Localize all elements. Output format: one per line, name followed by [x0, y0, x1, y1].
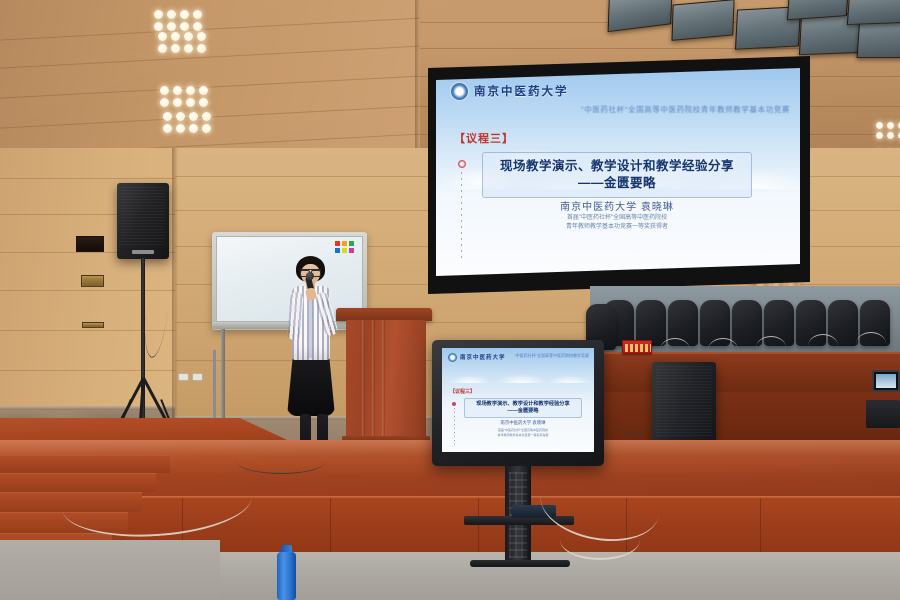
slide-subtitle: 首届"中医药社杯"全国高等中医药院校 青年教师教学基本功竞赛一等奖获得者: [482, 214, 752, 233]
mini-bullet-icon: [452, 402, 456, 406]
wall-plaque: [82, 322, 104, 328]
pa-speaker-grill: [121, 187, 165, 247]
panel-chair[interactable]: [732, 300, 762, 346]
mini-university-seal-icon: [448, 353, 457, 362]
wall-socket[interactable]: [178, 373, 189, 381]
slide-presenter-line: 南京中医药大学 袁晓琳: [482, 198, 752, 213]
mini-title-line-1: 现场教学演示、教学设计和教学经验分享: [468, 401, 578, 408]
pa-speaker-badge: [132, 250, 154, 254]
whiteboard-magnets[interactable]: [335, 241, 354, 253]
slide-bullet-icon: [458, 160, 466, 168]
wall-display-panel: [76, 236, 104, 252]
projection-screen[interactable]: 南京中医药大学 "中医药社杯"全国高等中医药院校青年教师教学基本功竞赛 【议程三…: [436, 68, 800, 276]
mini-presenter-line: 南京中医药大学 袁晓琳: [464, 420, 582, 426]
mini-subtitle-line-2: 青年教师教学基本功竞赛一等奖获得者: [464, 433, 582, 438]
ceiling-corner-shadow: [415, 0, 420, 150]
podium: [346, 320, 426, 440]
wall-plaque: [81, 275, 104, 287]
acoustic-panel: [847, 0, 900, 25]
slide-dotted-guide: [461, 172, 462, 260]
slide-university-name: 南京中医药大学: [474, 83, 569, 99]
floor-cable: [560, 520, 640, 560]
mini-title-line-2: ——金匮要略: [468, 408, 578, 415]
slide-subtitle-line-2: 青年教师教学基本功竞赛一等奖获得者: [482, 223, 752, 232]
slide-subtitle-line-1: 首届"中医药社杯"全国高等中医药院校: [482, 214, 752, 223]
wall-socket[interactable]: [192, 373, 203, 381]
mini-agenda-label: 【议程三】: [450, 388, 475, 395]
ceiling-light-grid: [154, 10, 202, 31]
floor-speaker-grill: [656, 366, 712, 438]
lecture-hall-scene: 南京中医药大学 "中医药社杯"全国高等中医药院校青年教师教学基本功竞赛 【议程三…: [0, 0, 900, 600]
mini-title-box: 现场教学演示、教学设计和教学经验分享 ——金匮要略: [464, 398, 582, 418]
mini-event-banner: "中医药社杯"全国高等中医药院校教学竞赛: [514, 353, 589, 359]
stage-cable: [236, 448, 326, 474]
podium-molding: [372, 320, 375, 440]
mini-university-name: 南京中医药大学: [460, 353, 506, 361]
podium-molding: [362, 320, 365, 440]
name-placard: [622, 340, 652, 354]
mic-stand-pole: [213, 350, 216, 422]
slide-title-line-2: ——金匮要略: [490, 175, 744, 192]
water-bottle[interactable]: [277, 552, 296, 600]
ceiling-light-grid: [160, 86, 208, 107]
confidence-monitor[interactable]: 南京中医药大学 "中医药社杯"全国高等中医药院校教学竞赛 【议程三】 现场教学演…: [442, 348, 594, 452]
slide-agenda-label: 【议程三】: [454, 130, 514, 146]
presenter-skirt: [287, 354, 335, 416]
podium-molding: [382, 320, 385, 440]
control-rack-unit: [866, 400, 900, 428]
mini-dotted-guide: [454, 408, 455, 446]
hall-floor-left: [0, 540, 220, 600]
slide-title-box: 现场教学演示、教学设计和教学经验分享 ——金匮要略: [482, 152, 752, 198]
wall-light-grid: [876, 122, 900, 139]
control-rack-monitor[interactable]: [872, 370, 900, 392]
slide-event-banner: "中医药社杯"全国高等中医药院校青年教师教学基本功竞赛: [581, 104, 790, 115]
microphone-head-icon: [306, 272, 314, 280]
slide-title-line-1: 现场教学演示、教学设计和教学经验分享: [490, 158, 744, 175]
ceiling-light-grid: [163, 112, 211, 133]
wall-corner-shadow: [172, 148, 178, 448]
monitor-stand-base: [470, 560, 570, 567]
ceiling-light-grid: [158, 32, 206, 53]
university-seal-icon: [450, 82, 469, 101]
mini-subtitle: 首届"中医药社杯"全国高等中医药院校 青年教师教学基本功竞赛一等奖获得者: [464, 428, 582, 438]
acoustic-panel: [671, 0, 734, 41]
